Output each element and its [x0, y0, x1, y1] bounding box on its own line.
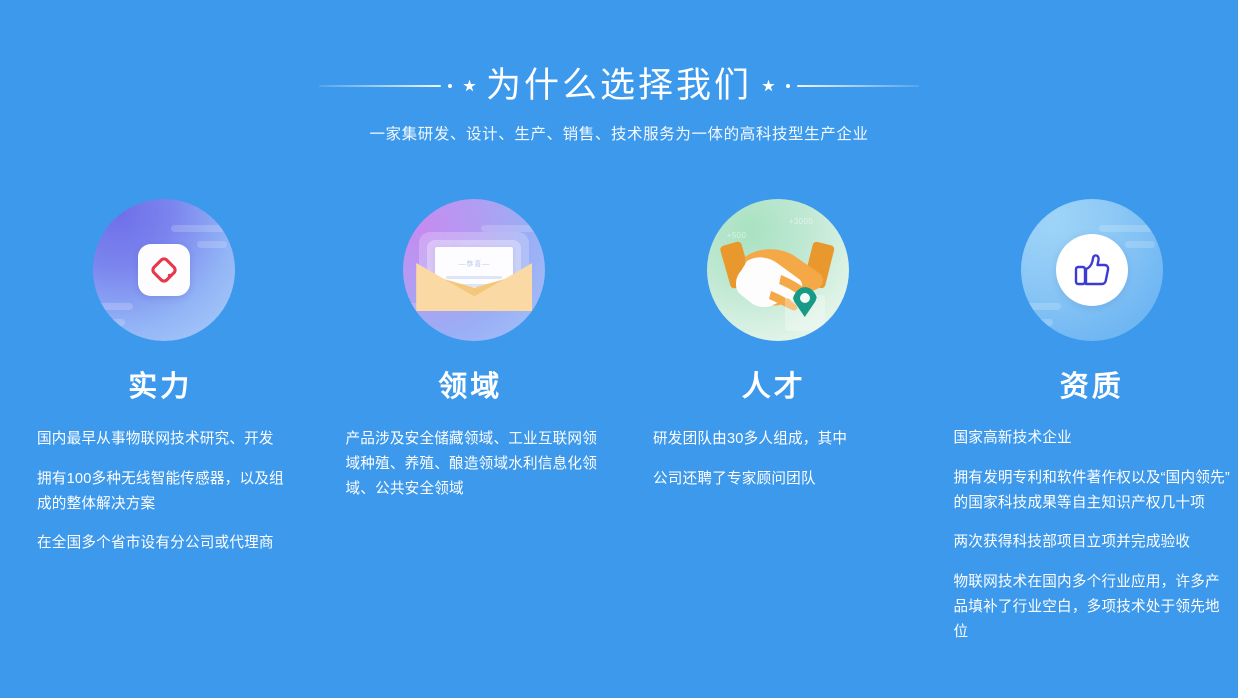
decoration-dot-icon	[448, 84, 452, 88]
column-heading: 领域	[346, 367, 596, 407]
decoration-line-icon	[319, 85, 441, 87]
icon-container	[37, 195, 292, 365]
highlight-streak	[93, 303, 133, 310]
title-decoration-left	[319, 58, 480, 114]
envelope-graphic: —恭喜—	[403, 199, 545, 341]
highlight-streak	[1125, 241, 1155, 248]
handshake-graphic: +500 +3000	[707, 199, 849, 341]
feature-columns: 实力 国内最早从事物联网技术研究、开发 拥有100多种无线智能传感器，以及组成的…	[0, 195, 1238, 645]
column-items: 研发团队由30多人组成，其中 公司还聘了专家顾问团队	[653, 427, 903, 492]
badge-label: +500	[727, 231, 747, 240]
column-items: 产品涉及安全储藏领域、工业互联网领域种殖、养殖、酿造领域水利信息化领域、公共安全…	[346, 427, 604, 502]
page-title: 为什么选择我们	[480, 58, 758, 114]
section-subtitle: 一家集研发、设计、生产、销售、技术服务为一体的高科技型生产企业	[0, 124, 1238, 146]
decoration-line-icon	[797, 85, 919, 87]
icon-container: +500 +3000	[653, 195, 903, 365]
list-item: 在全国多个省市设有分公司或代理商	[37, 531, 292, 556]
list-item: 物联网技术在国内多个行业应用，许多产品填补了行业空白，多项技术处于领先地位	[954, 570, 1231, 645]
highlight-streak	[171, 225, 225, 232]
feature-column-qualification: 资质 国家高新技术企业 拥有发明专利和软件著作权以及“国内领先”的国家科技成果等…	[929, 195, 1238, 645]
feature-column-strength: 实力 国内最早从事物联网技术研究、开发 拥有100多种无线智能传感器，以及组成的…	[0, 195, 310, 645]
letter-text-line	[446, 276, 502, 279]
thumbs-up-outline-icon	[1071, 249, 1113, 291]
diamond-gem-icon	[93, 199, 235, 341]
why-choose-us-section: 为什么选择我们 一家集研发、设计、生产、销售、技术服务为一体的高科技型生产企业	[0, 0, 1238, 698]
icon-container	[954, 195, 1231, 365]
list-item: 拥有发明专利和软件著作权以及“国内领先”的国家科技成果等自主知识产权几十项	[954, 466, 1231, 516]
section-title-row: 为什么选择我们	[0, 58, 1238, 114]
list-item: 两次获得科技部项目立项并完成验收	[954, 530, 1231, 555]
list-item: 研发团队由30多人组成，其中	[653, 427, 903, 452]
star-icon	[762, 80, 775, 93]
decoration-dot-icon	[786, 84, 790, 88]
list-item: 国家高新技术企业	[954, 426, 1231, 451]
highlight-streak	[1099, 225, 1153, 232]
icon-container: —恭喜—	[346, 195, 604, 365]
section-header: 为什么选择我们 一家集研发、设计、生产、销售、技术服务为一体的高科技型生产企业	[0, 58, 1238, 146]
highlight-streak	[197, 241, 227, 248]
highlight-streak	[1029, 319, 1053, 326]
highlight-streak	[101, 319, 125, 326]
feature-column-talent: +500 +3000	[619, 195, 929, 645]
list-item: 公司还聘了专家顾问团队	[653, 467, 903, 492]
location-pin-center	[800, 293, 810, 303]
letter-caption: —恭喜—	[458, 259, 490, 269]
thumbs-up-icon	[1021, 199, 1163, 341]
envelope-letter-icon: —恭喜—	[403, 199, 545, 341]
column-heading: 实力	[37, 367, 284, 407]
column-items: 国家高新技术企业 拥有发明专利和软件著作权以及“国内领先”的国家科技成果等自主知…	[954, 426, 1231, 645]
list-item: 产品涉及安全储藏领域、工业互联网领域种殖、养殖、酿造领域水利信息化领域、公共安全…	[346, 427, 604, 502]
list-item: 拥有100多种无线智能传感器，以及组成的整体解决方案	[37, 467, 292, 517]
list-item: 国内最早从事物联网技术研究、开发	[37, 427, 292, 452]
icon-disc	[1056, 234, 1128, 306]
icon-tile	[138, 244, 190, 296]
column-heading: 人才	[653, 367, 895, 407]
handshake-hands-icon	[707, 199, 849, 341]
title-decoration-right	[758, 58, 919, 114]
badge-label: +3000	[789, 217, 813, 226]
highlight-streak	[1021, 303, 1061, 310]
diamond-outline-icon	[147, 253, 181, 287]
handshake-icon: +500 +3000	[707, 199, 849, 341]
column-heading: 资质	[954, 367, 1231, 407]
star-icon	[463, 80, 476, 93]
column-items: 国内最早从事物联网技术研究、开发 拥有100多种无线智能传感器，以及组成的整体解…	[37, 427, 292, 556]
feature-column-fields: —恭喜— 领域 产品涉及安全储藏领域、工业互联网领域种殖、养殖、酿造领域水利信息…	[310, 195, 620, 645]
